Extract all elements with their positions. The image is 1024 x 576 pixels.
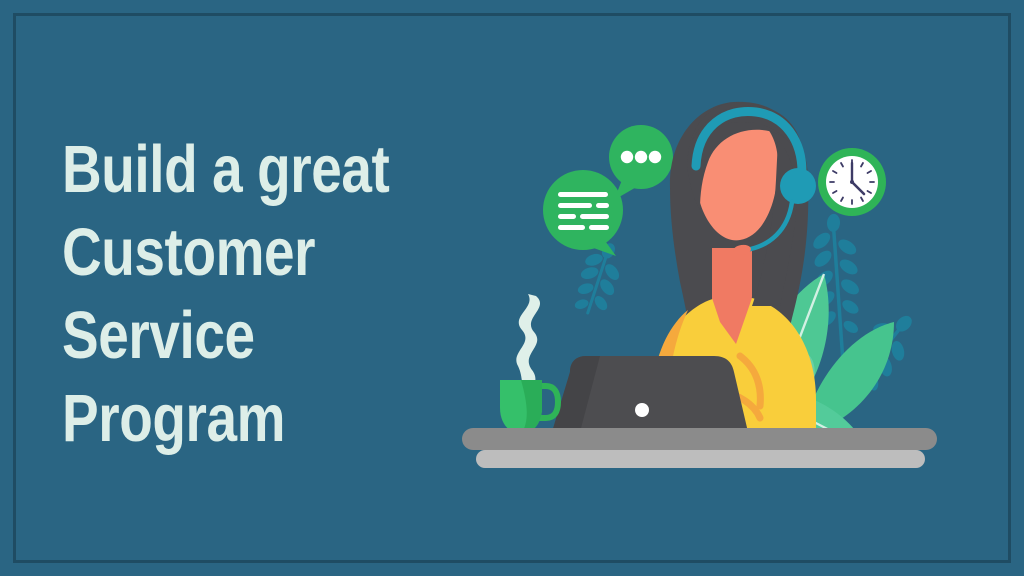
chat-bubble-lines-icon bbox=[543, 170, 623, 256]
laptop-logo-dot bbox=[635, 403, 649, 417]
desk bbox=[462, 428, 937, 468]
wall-clock-icon bbox=[818, 148, 886, 216]
chat-bubble-dots-icon bbox=[609, 125, 673, 200]
customer-service-agent-illustration bbox=[400, 60, 1024, 540]
headset-earpiece bbox=[780, 168, 816, 204]
coffee-mug bbox=[500, 294, 558, 434]
laptop bbox=[552, 356, 748, 432]
desk-top bbox=[462, 428, 937, 450]
poster-canvas: Build a great Customer Service Program bbox=[0, 0, 1024, 576]
page-title: Build a great Customer Service Program bbox=[62, 128, 447, 460]
desk-front bbox=[476, 450, 925, 468]
